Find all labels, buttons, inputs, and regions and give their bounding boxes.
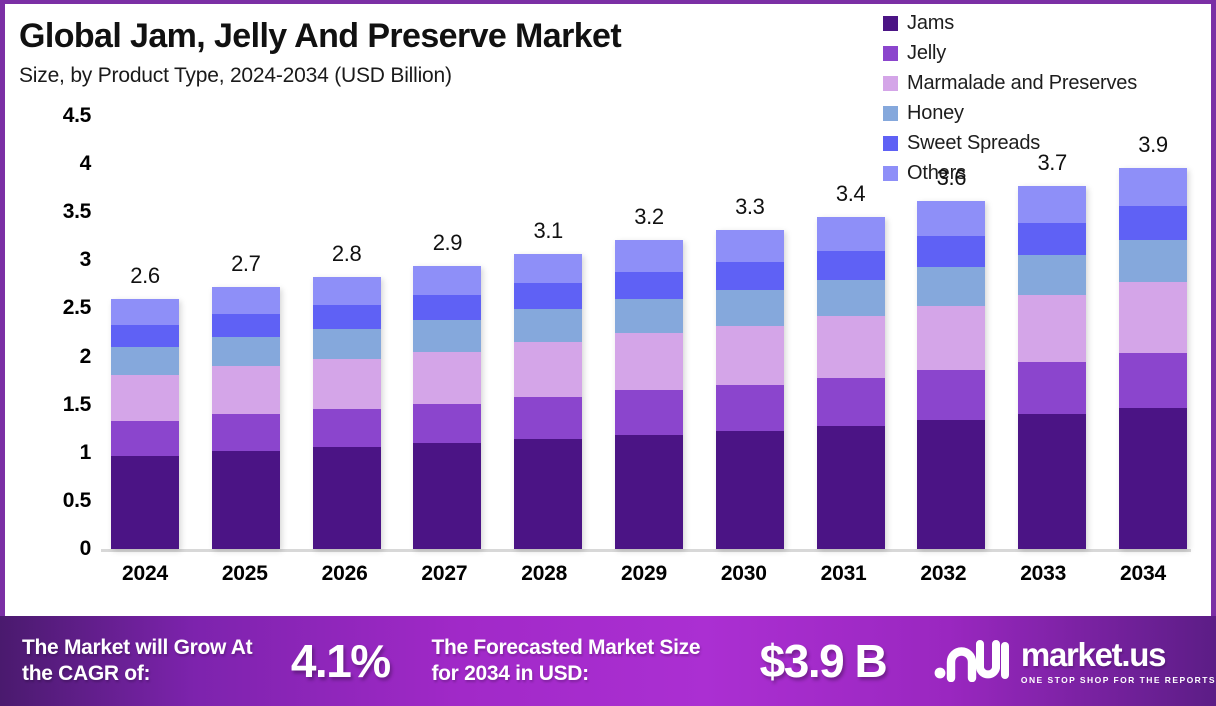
bar-segment-sweet-spreads[interactable] [917, 236, 985, 267]
logo-tagline: ONE STOP SHOP FOR THE REPORTS [1021, 675, 1216, 685]
x-axis-tick: 2031 [802, 562, 886, 586]
bar-segment-marmalade-and-preserves[interactable] [615, 333, 683, 390]
bar-segment-jelly[interactable] [917, 370, 985, 420]
cagr-value: 4.1% [271, 634, 409, 688]
bar-total-label: 2.7 [204, 251, 288, 277]
bar-segment-others[interactable] [716, 230, 784, 263]
bar-total-label: 2.8 [305, 241, 389, 267]
bar-total-label: 3.2 [607, 204, 691, 230]
bar-total-label: 3.9 [1111, 132, 1195, 158]
bar-segment-sweet-spreads[interactable] [212, 314, 280, 337]
stacked-bar[interactable] [716, 230, 784, 549]
bar-segment-sweet-spreads[interactable] [413, 295, 481, 320]
bar-column-2034[interactable]: 3.9 [1111, 116, 1195, 549]
bar-segment-honey[interactable] [817, 280, 885, 317]
y-axis: 00.511.522.533.544.5 [23, 116, 91, 549]
bar-segment-others[interactable] [817, 217, 885, 251]
bar-segment-jelly[interactable] [313, 409, 381, 447]
bar-segment-jelly[interactable] [1018, 362, 1086, 414]
bar-group: 2.62.72.82.93.13.23.33.43.63.73.9 [103, 116, 1195, 549]
bar-segment-others[interactable] [1018, 186, 1086, 223]
bar-segment-sweet-spreads[interactable] [111, 325, 179, 347]
bar-segment-marmalade-and-preserves[interactable] [111, 375, 179, 421]
y-axis-tick: 2.5 [63, 296, 91, 320]
market-us-logo[interactable]: market.us ONE STOP SHOP FOR THE REPORTS [934, 638, 1216, 685]
bar-segment-jelly[interactable] [212, 414, 280, 451]
bar-segment-jams[interactable] [1018, 414, 1086, 549]
stacked-bar[interactable] [111, 299, 179, 549]
bottom-banner: The Market will Grow At the CAGR of: 4.1… [0, 616, 1216, 706]
header: Global Jam, Jelly And Preserve Market Si… [19, 18, 809, 88]
y-axis-tick: 3 [80, 248, 91, 272]
x-axis-tick: 2027 [402, 562, 486, 586]
legend-swatch-icon [883, 46, 898, 61]
bar-segment-jams[interactable] [817, 426, 885, 549]
bar-segment-jams[interactable] [111, 456, 179, 549]
page-subtitle: Size, by Product Type, 2024-2034 (USD Bi… [19, 64, 809, 88]
bar-segment-honey[interactable] [413, 320, 481, 352]
x-axis-baseline [101, 549, 1191, 552]
logo-text-block: market.us ONE STOP SHOP FOR THE REPORTS [1021, 638, 1216, 685]
x-axis-tick: 2033 [1001, 562, 1085, 586]
bar-segment-marmalade-and-preserves[interactable] [1018, 295, 1086, 362]
bar-segment-jams[interactable] [313, 447, 381, 549]
page-title: Global Jam, Jelly And Preserve Market [19, 18, 809, 55]
x-axis-tick: 2024 [103, 562, 187, 586]
stacked-bar[interactable] [1119, 168, 1187, 549]
bar-segment-others[interactable] [514, 254, 582, 284]
bar-segment-jelly[interactable] [514, 397, 582, 439]
bar-segment-others[interactable] [313, 277, 381, 305]
y-axis-tick: 1.5 [63, 393, 91, 417]
infographic-root: Global Jam, Jelly And Preserve Market Si… [0, 0, 1216, 706]
bar-segment-jelly[interactable] [817, 378, 885, 426]
bar-segment-others[interactable] [111, 299, 179, 325]
y-axis-tick: 0.5 [63, 489, 91, 513]
bar-segment-sweet-spreads[interactable] [817, 251, 885, 280]
x-axis: 2024202520262027202820292030203120322033… [103, 562, 1185, 586]
legend-swatch-icon [883, 76, 898, 91]
x-axis-tick: 2029 [602, 562, 686, 586]
x-axis-tick: 2030 [702, 562, 786, 586]
y-axis-tick: 2 [80, 345, 91, 369]
bar-segment-jams[interactable] [1119, 408, 1187, 549]
bar-segment-jelly[interactable] [615, 390, 683, 434]
cagr-caption: The Market will Grow At the CAGR of: [22, 635, 271, 686]
bar-column-2027[interactable]: 2.9 [405, 116, 489, 549]
chart-plot-area: 00.511.522.533.544.5 2.62.72.82.93.13.23… [23, 116, 1203, 561]
bar-segment-jams[interactable] [413, 443, 481, 549]
bar-segment-marmalade-and-preserves[interactable] [917, 306, 985, 370]
y-axis-tick: 0 [80, 537, 91, 561]
bar-segment-honey[interactable] [917, 267, 985, 305]
bar-segment-honey[interactable] [1018, 255, 1086, 295]
bar-column-2026[interactable]: 2.8 [305, 116, 389, 549]
bar-column-2031[interactable]: 3.4 [809, 116, 893, 549]
legend-swatch-icon [883, 16, 898, 31]
bar-column-2030[interactable]: 3.3 [708, 116, 792, 549]
legend-item-jelly[interactable]: Jelly [883, 38, 946, 68]
y-axis-tick: 4 [80, 152, 91, 176]
x-axis-tick: 2032 [901, 562, 985, 586]
bar-segment-sweet-spreads[interactable] [313, 305, 381, 329]
bar-segment-honey[interactable] [212, 337, 280, 366]
bar-segment-honey[interactable] [716, 290, 784, 326]
bar-segment-others[interactable] [917, 201, 985, 237]
stacked-bar[interactable] [313, 277, 381, 549]
stacked-bar[interactable] [212, 287, 280, 549]
bar-column-2032[interactable]: 3.6 [909, 116, 993, 549]
bar-segment-sweet-spreads[interactable] [615, 272, 683, 299]
bar-segment-marmalade-and-preserves[interactable] [313, 359, 381, 409]
logo-wordmark: market.us [1021, 638, 1216, 671]
bar-segment-jams[interactable] [716, 431, 784, 549]
bar-column-2025[interactable]: 2.7 [204, 116, 288, 549]
bar-segment-marmalade-and-preserves[interactable] [817, 316, 885, 378]
bar-total-label: 3.7 [1010, 150, 1094, 176]
legend-item-jams[interactable]: Jams [883, 8, 954, 38]
bar-column-2029[interactable]: 3.2 [607, 116, 691, 549]
bar-total-label: 2.6 [103, 263, 187, 289]
bar-segment-honey[interactable] [615, 299, 683, 334]
bar-segment-others[interactable] [212, 287, 280, 314]
bar-segment-marmalade-and-preserves[interactable] [716, 326, 784, 386]
bar-segment-jams[interactable] [514, 439, 582, 549]
bar-total-label: 3.6 [909, 165, 993, 191]
y-axis-tick: 4.5 [63, 104, 91, 128]
bar-segment-honey[interactable] [313, 329, 381, 359]
stacked-bar[interactable] [1018, 186, 1086, 549]
bar-segment-sweet-spreads[interactable] [1018, 223, 1086, 255]
stacked-bar[interactable] [615, 240, 683, 549]
bar-segment-sweet-spreads[interactable] [514, 283, 582, 309]
bar-segment-sweet-spreads[interactable] [1119, 206, 1187, 240]
bar-segment-sweet-spreads[interactable] [716, 262, 784, 290]
bar-segment-others[interactable] [615, 240, 683, 272]
bar-segment-marmalade-and-preserves[interactable] [413, 352, 481, 404]
bar-total-label: 2.9 [405, 230, 489, 256]
legend-item-label: Jelly [907, 42, 946, 65]
x-axis-tick: 2026 [303, 562, 387, 586]
bar-segment-jelly[interactable] [716, 385, 784, 430]
bar-segment-jelly[interactable] [413, 404, 481, 443]
forecast-caption: The Forecasted Market Size for 2034 in U… [431, 635, 728, 686]
bar-segment-marmalade-and-preserves[interactable] [1119, 282, 1187, 352]
bar-segment-marmalade-and-preserves[interactable] [212, 366, 280, 414]
legend-item-label: Jams [907, 12, 954, 35]
bar-segment-others[interactable] [413, 266, 481, 295]
x-axis-tick: 2028 [502, 562, 586, 586]
bar-segment-honey[interactable] [111, 347, 179, 375]
forecast-value: $3.9 B [734, 634, 912, 688]
bar-segment-honey[interactable] [1119, 240, 1187, 282]
bar-total-label: 3.1 [506, 218, 590, 244]
bar-segment-jams[interactable] [212, 451, 280, 549]
y-axis-tick: 1 [80, 441, 91, 465]
stacked-bar[interactable] [917, 201, 985, 549]
y-axis-tick: 3.5 [63, 200, 91, 224]
stacked-bar[interactable] [817, 217, 885, 549]
x-axis-tick: 2025 [203, 562, 287, 586]
stacked-bar[interactable] [514, 254, 582, 549]
bar-segment-jelly[interactable] [111, 421, 179, 456]
bar-segment-jams[interactable] [615, 435, 683, 550]
bar-total-label: 3.4 [809, 181, 893, 207]
x-axis-tick: 2034 [1101, 562, 1185, 586]
legend-item-marmalade-and-preserves[interactable]: Marmalade and Preserves [883, 68, 1137, 98]
bar-segment-jelly[interactable] [1119, 353, 1187, 408]
bar-total-label: 3.3 [708, 194, 792, 220]
bar-column-2028[interactable]: 3.1 [506, 116, 590, 549]
bar-segment-marmalade-and-preserves[interactable] [514, 342, 582, 397]
bar-column-2024[interactable]: 2.6 [103, 116, 187, 549]
logo-mark-icon [934, 640, 1010, 682]
legend-item-label: Marmalade and Preserves [907, 72, 1137, 95]
stacked-bar[interactable] [413, 266, 481, 549]
bar-segment-honey[interactable] [514, 309, 582, 342]
bar-column-2033[interactable]: 3.7 [1010, 116, 1094, 549]
bar-segment-others[interactable] [1119, 168, 1187, 206]
bar-segment-jams[interactable] [917, 420, 985, 549]
